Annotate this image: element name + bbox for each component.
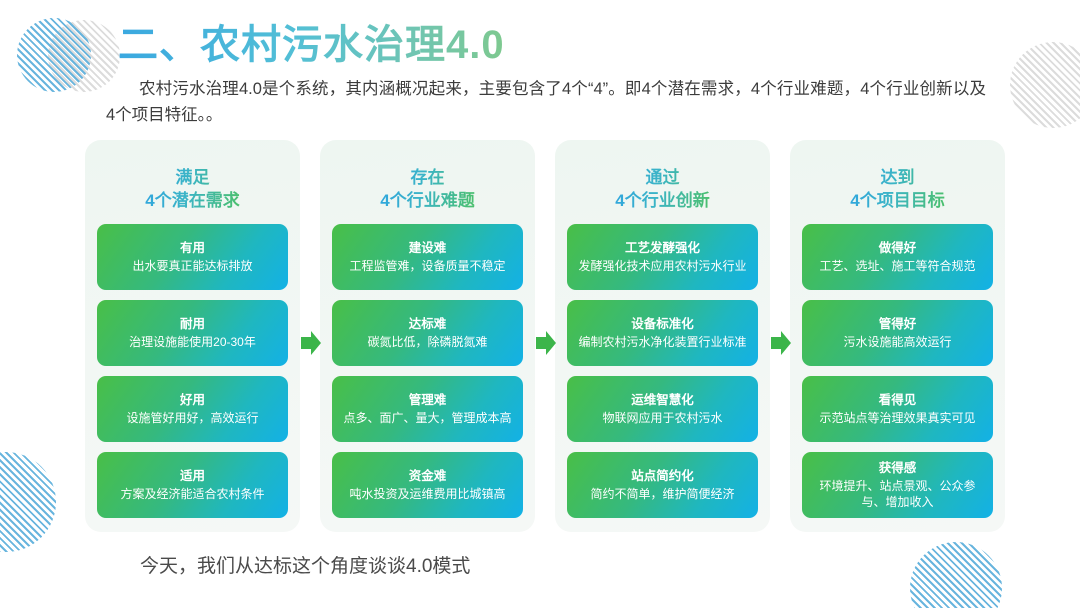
card-item[interactable]: 管得好 污水设施能高效运行 <box>802 300 993 366</box>
panel-column-1: 满足 4个潜在需求 有用 出水要真正能达标排放 耐用 治理设施能使用20-30年… <box>85 140 300 532</box>
card-description: 治理设施能使用20-30年 <box>107 334 278 350</box>
arrow-right-icon <box>300 330 322 356</box>
decor-striped-circle-blue-bottom-right <box>910 542 1002 608</box>
card-item[interactable]: 设备标准化 编制农村污水净化装置行业标准 <box>567 300 758 366</box>
panel-heading-4-line1: 达到 <box>881 168 915 187</box>
card-list-3: 工艺发酵强化 发酵强化技术应用农村污水行业 设备标准化 编制农村污水净化装置行业… <box>555 224 770 532</box>
card-description: 示范站点等治理效果真实可见 <box>812 410 983 426</box>
panel-column-2: 存在 4个行业难题 建设难 工程监管难，设备质量不稳定 达标难 碳氮比低，除磷脱… <box>320 140 535 532</box>
card-list-2: 建设难 工程监管难，设备质量不稳定 达标难 碳氮比低，除磷脱氮难 管理难 点多、… <box>320 224 535 532</box>
card-description: 点多、面广、量大，管理成本高 <box>342 410 513 426</box>
panel-column-4: 达到 4个项目目标 做得好 工艺、选址、施工等符合规范 管得好 污水设施能高效运… <box>790 140 1005 532</box>
card-item[interactable]: 适用 方案及经济能适合农村条件 <box>97 452 288 518</box>
panel-heading-3: 通过 4个行业创新 <box>615 166 709 212</box>
card-title: 获得感 <box>812 460 983 477</box>
panel-heading-3-line1: 通过 <box>646 168 680 187</box>
card-description: 方案及经济能适合农村条件 <box>107 486 278 502</box>
card-title: 适用 <box>107 468 278 485</box>
card-description: 工程监管难，设备质量不稳定 <box>342 258 513 274</box>
card-title: 运维智慧化 <box>577 392 748 409</box>
card-description: 污水设施能高效运行 <box>812 334 983 350</box>
intro-paragraph: 农村污水治理4.0是个系统，其内涵概况起来，主要包含了4个“4”。即4个潜在需求… <box>106 76 986 128</box>
card-title: 工艺发酵强化 <box>577 240 748 257</box>
card-title: 设备标准化 <box>577 316 748 333</box>
card-description: 工艺、选址、施工等符合规范 <box>812 258 983 274</box>
card-item[interactable]: 有用 出水要真正能达标排放 <box>97 224 288 290</box>
card-description: 发酵强化技术应用农村污水行业 <box>577 258 748 274</box>
card-item[interactable]: 看得见 示范站点等治理效果真实可见 <box>802 376 993 442</box>
panel-heading-2: 存在 4个行业难题 <box>380 166 474 212</box>
card-description: 简约不简单，维护简便经济 <box>577 486 748 502</box>
footer-note: 今天，我们从达标这个角度谈谈4.0模式 <box>140 553 470 581</box>
card-description: 设施管好用好，高效运行 <box>107 410 278 426</box>
panel-heading-4-line2: 4个项目目标 <box>850 189 944 212</box>
card-description: 出水要真正能达标排放 <box>107 258 278 274</box>
panel-heading-4: 达到 4个项目目标 <box>850 166 944 212</box>
card-item[interactable]: 获得感 环境提升、站点景观、公众参与、增加收入 <box>802 452 993 518</box>
arrow-right-icon <box>535 330 557 356</box>
card-title: 耐用 <box>107 316 278 333</box>
panel-heading-1-line2: 4个潜在需求 <box>145 189 239 212</box>
card-title: 达标难 <box>342 316 513 333</box>
panel-heading-2-line1: 存在 <box>411 168 445 187</box>
card-title: 好用 <box>107 392 278 409</box>
card-list-1: 有用 出水要真正能达标排放 耐用 治理设施能使用20-30年 好用 设施管好用好… <box>85 224 300 532</box>
panel-column-3: 通过 4个行业创新 工艺发酵强化 发酵强化技术应用农村污水行业 设备标准化 编制… <box>555 140 770 532</box>
card-title: 做得好 <box>812 240 983 257</box>
decor-striped-circle-blue-top-left <box>17 18 91 92</box>
card-item[interactable]: 管理难 点多、面广、量大，管理成本高 <box>332 376 523 442</box>
card-item[interactable]: 好用 设施管好用好，高效运行 <box>97 376 288 442</box>
card-title: 资金难 <box>342 468 513 485</box>
card-item[interactable]: 达标难 碳氮比低，除磷脱氮难 <box>332 300 523 366</box>
card-title: 有用 <box>107 240 278 257</box>
card-description: 吨水投资及运维费用比城镇高 <box>342 486 513 502</box>
card-item[interactable]: 做得好 工艺、选址、施工等符合规范 <box>802 224 993 290</box>
slide-canvas: 二、农村污水治理4.0 农村污水治理4.0是个系统，其内涵概况起来，主要包含了4… <box>0 0 1080 608</box>
card-title: 管得好 <box>812 316 983 333</box>
card-item[interactable]: 资金难 吨水投资及运维费用比城镇高 <box>332 452 523 518</box>
card-description: 物联网应用于农村污水 <box>577 410 748 426</box>
card-description: 编制农村污水净化装置行业标准 <box>577 334 748 350</box>
card-item[interactable]: 工艺发酵强化 发酵强化技术应用农村污水行业 <box>567 224 758 290</box>
panel-heading-2-line2: 4个行业难题 <box>380 189 474 212</box>
card-title: 管理难 <box>342 392 513 409</box>
card-item[interactable]: 建设难 工程监管难，设备质量不稳定 <box>332 224 523 290</box>
card-title: 站点简约化 <box>577 468 748 485</box>
panel-heading-1-line1: 满足 <box>176 168 210 187</box>
slide-title: 二、农村污水治理4.0 <box>118 22 505 68</box>
card-item[interactable]: 站点简约化 简约不简单，维护简便经济 <box>567 452 758 518</box>
card-description: 环境提升、站点景观、公众参与、增加收入 <box>812 478 983 510</box>
panel-heading-1: 满足 4个潜在需求 <box>145 166 239 212</box>
card-title: 看得见 <box>812 392 983 409</box>
panel-heading-3-line2: 4个行业创新 <box>615 189 709 212</box>
decor-striped-circle-gray-top-right <box>1010 42 1080 128</box>
card-title: 建设难 <box>342 240 513 257</box>
card-item[interactable]: 运维智慧化 物联网应用于农村污水 <box>567 376 758 442</box>
arrow-right-icon <box>770 330 792 356</box>
card-description: 碳氮比低，除磷脱氮难 <box>342 334 513 350</box>
card-item[interactable]: 耐用 治理设施能使用20-30年 <box>97 300 288 366</box>
decor-striped-circle-blue-bottom-left <box>0 452 56 552</box>
card-list-4: 做得好 工艺、选址、施工等符合规范 管得好 污水设施能高效运行 看得见 示范站点… <box>790 224 1005 532</box>
